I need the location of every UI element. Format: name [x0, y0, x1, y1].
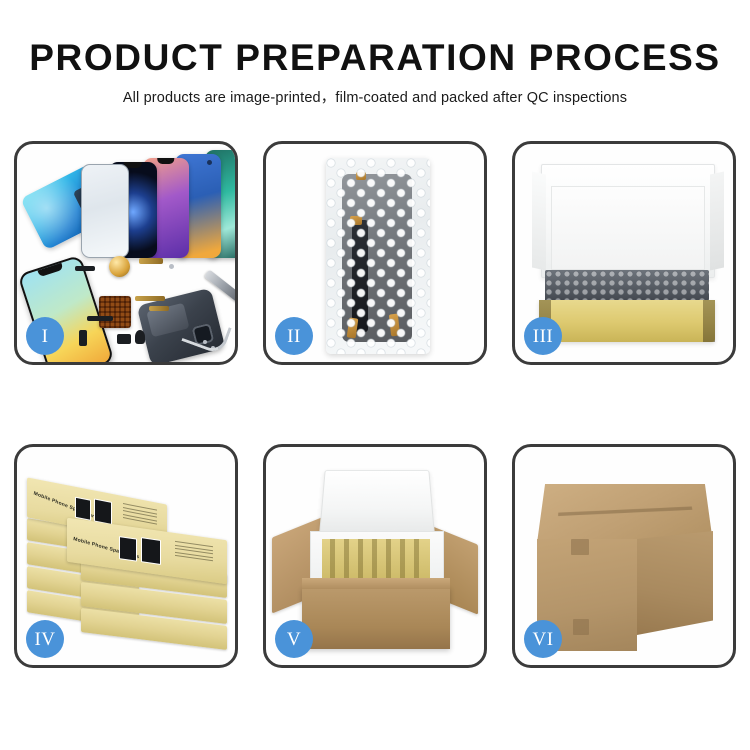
shipping-carton-open: [302, 587, 450, 649]
step-badge-6: VI: [524, 620, 562, 658]
process-step-5[interactable]: V: [263, 444, 487, 668]
step-badge-1: I: [26, 317, 64, 355]
screw-part: [169, 264, 174, 269]
bubble-wrapped-contents: [545, 270, 709, 304]
notch-icon: [38, 263, 64, 277]
flex-cable-part: [135, 296, 165, 301]
bubble-wrap-bag: [326, 158, 430, 354]
yellow-inner-box-tray: [539, 300, 715, 342]
page-subtitle: All products are image-printed，film-coat…: [0, 89, 750, 108]
box-spec-lines: [123, 503, 157, 527]
carton-side-face: [637, 531, 713, 635]
step-badge-4: IV: [26, 620, 64, 658]
box-product-photo: [119, 536, 137, 562]
process-step-2[interactable]: II: [263, 141, 487, 365]
process-step-3[interactable]: III: [512, 141, 736, 365]
flex-strip-part: [117, 334, 131, 344]
coil-component: [109, 256, 130, 277]
box-spec-lines: [175, 541, 213, 564]
bubble-texture: [326, 158, 430, 354]
foam-box-lid: [319, 470, 435, 536]
step-badge-5: V: [275, 620, 313, 658]
product-preparation-page: PRODUCT PREPARATION PROCESS All products…: [0, 0, 750, 750]
box-product-photo: [141, 537, 161, 565]
flex-strip-part: [87, 316, 113, 321]
chip-grid-component: [99, 296, 131, 328]
sealing-tape: [573, 619, 589, 635]
process-step-6[interactable]: VI: [512, 444, 736, 668]
tempered-glass-screen: [81, 164, 129, 258]
box-product-photo: [75, 497, 91, 521]
step-badge-2: II: [275, 317, 313, 355]
page-header: PRODUCT PREPARATION PROCESS All products…: [0, 36, 750, 108]
page-title: PRODUCT PREPARATION PROCESS: [0, 36, 750, 80]
flex-strip-part: [79, 330, 87, 346]
camera-punch-icon: [207, 160, 212, 165]
notch-icon: [157, 158, 174, 164]
flex-cable-part: [139, 258, 163, 264]
flex-strip-part: [135, 330, 145, 344]
process-step-grid: I II: [14, 141, 736, 686]
process-step-4[interactable]: Mobile Phone Spare Parts Mobile Phone Sp…: [14, 444, 238, 668]
foam-padding: [551, 186, 705, 270]
step-badge-3: III: [524, 317, 562, 355]
sealing-tape: [571, 539, 589, 555]
process-step-1[interactable]: I: [14, 141, 238, 365]
flex-cable-part: [149, 306, 169, 311]
flex-strip-part: [75, 266, 95, 271]
